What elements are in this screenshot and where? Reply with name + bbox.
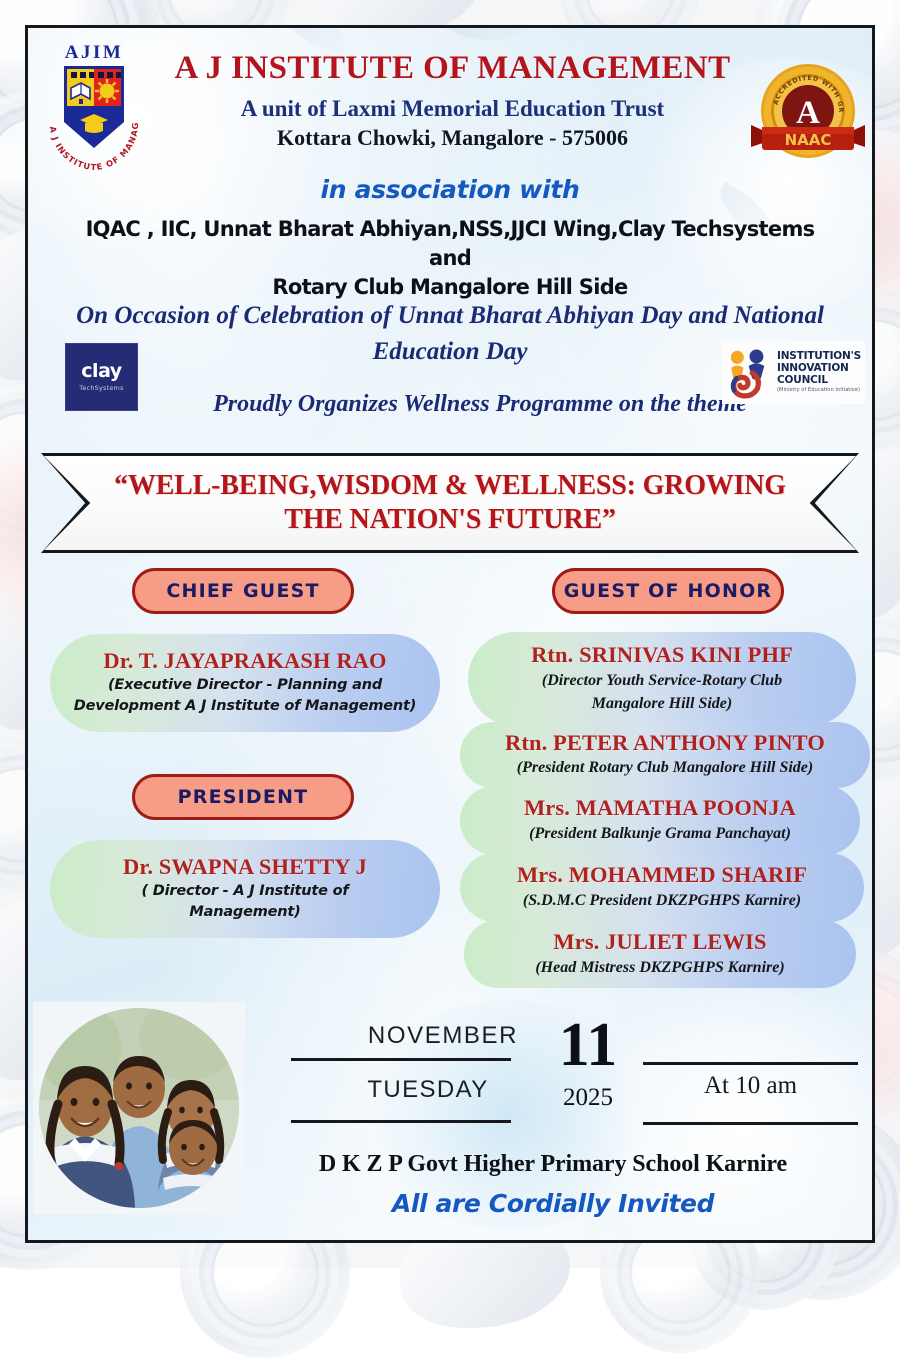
time-divider-bottom (643, 1122, 858, 1125)
svg-text:AJIM: AJIM (65, 42, 124, 63)
occasion-line-1: On Occasion of Celebration of Unnat Bhar… (66, 298, 834, 334)
association-label: in association with (28, 175, 872, 204)
iic-line-3: COUNCIL (777, 375, 861, 387)
guest-designation-line-1: (S.D.M.C President DKZPGHPS Karnire) (468, 891, 856, 911)
chief-guest-designation-line-2: Development A J Institute of Management) (64, 698, 426, 716)
guest-name: Mrs. MOHAMMED SHARIF (468, 862, 856, 888)
time-divider-top (643, 1062, 858, 1065)
guest-name: Mrs. JULIET LEWIS (472, 929, 848, 955)
institution-address: Kottara Chowki, Mangalore - 575006 (138, 125, 767, 151)
iic-line-2: INNOVATION (777, 363, 861, 375)
president-name: Dr. SWAPNA SHETTY J (64, 854, 426, 880)
clay-logo-subtitle: TechSystems (79, 384, 123, 392)
svg-text:A: A (796, 95, 820, 131)
theme-line-1: “WELL-BEING,WISDOM & WELLNESS: GROWING (114, 469, 786, 503)
institution-name: A J INSTITUTE OF MANAGEMENT (148, 50, 757, 87)
president-designation-line-1: ( Director - A J Institute of (64, 883, 426, 901)
event-weekday: TUESDAY (328, 1076, 528, 1104)
chief-guest-card: Dr. T. JAYAPRAKASH RAO (Executive Direct… (50, 634, 440, 732)
guest-of-honor-column: GUEST OF HONOR Rtn. SRINIVAS KINI PHF (D… (458, 568, 875, 988)
clay-logo-word: clay (81, 362, 121, 381)
date-divider-top (291, 1058, 511, 1061)
svg-text:NAAC: NAAC (785, 131, 832, 149)
president-designation-line-2: Management) (64, 904, 426, 922)
school-children-photo (33, 1002, 245, 1214)
guest-name: Rtn. SRINIVAS KINI PHF (478, 642, 846, 668)
guest-designation-line-1: (Head Mistress DKZPGHPS Karnire) (472, 958, 848, 978)
event-venue: D K Z P Govt Higher Primary School Karni… (248, 1151, 858, 1178)
guest-of-honor-card: Mrs. MOHAMMED SHARIF (S.D.M.C President … (460, 853, 864, 922)
clay-techsystems-logo: clay TechSystems (65, 343, 138, 411)
guest-of-honor-card: Mrs. JULIET LEWIS (Head Mistress DKZPGHP… (464, 920, 856, 989)
event-time: At 10 am (643, 1072, 858, 1100)
guest-name: Rtn. PETER ANTHONY PINTO (468, 730, 862, 756)
theme-text: “WELL-BEING,WISDOM & WELLNESS: GROWING T… (56, 469, 844, 537)
ajim-crest-logo: AJIM A J INSTITUTE OF MANAGEMENT (40, 36, 148, 181)
iic-figures-icon (726, 347, 773, 399)
event-date-block: NOVEMBER TUESDAY 11 2025 At 10 am (283, 1020, 875, 1140)
occasion-text: On Occasion of Celebration of Unnat Bhar… (66, 298, 834, 369)
poster-card: AJIM A J INSTITUTE OF MANAGEMENT (25, 25, 875, 1243)
event-day-number: 11 (528, 1014, 648, 1076)
guest-designation-line-1: (President Rotary Club Mangalore Hill Si… (468, 758, 862, 778)
guest-name: Mrs. MAMATHA POONJA (468, 795, 852, 821)
occasion-line-2: Education Day (66, 334, 834, 370)
president-card: Dr. SWAPNA SHETTY J ( Director - A J Ins… (50, 840, 440, 938)
chief-guest-name: Dr. T. JAYAPRAKASH RAO (64, 648, 426, 674)
partner-organizations: IQAC , IIC, Unnat Bharat Abhiyan,NSS,JJC… (78, 215, 822, 302)
invitation-text: All are Cordially Invited (248, 1189, 858, 1218)
guest-of-honor-card: Mrs. MAMATHA POONJA (President Balkunje … (460, 786, 860, 855)
event-month: NOVEMBER (338, 1022, 548, 1050)
guest-designation-line-1: (President Balkunje Grama Panchayat) (468, 824, 852, 844)
iic-logo: INSTITUTION'S INNOVATION COUNCIL (Minist… (722, 341, 865, 404)
iic-ministry-note: (Ministry of Education Initiative) (777, 388, 861, 394)
guest-designation-line-2: Mangalore Hill Side) (478, 694, 846, 714)
theme-line-2: THE NATION'S FUTURE” (114, 503, 786, 537)
theme-ribbon-banner: “WELL-BEING,WISDOM & WELLNESS: GROWING T… (41, 453, 859, 553)
partners-line-1: IQAC , IIC, Unnat Bharat Abhiyan,NSS,JJC… (78, 215, 822, 273)
guest-of-honor-card: Rtn. PETER ANTHONY PINTO (President Rota… (460, 722, 870, 789)
guest-of-honor-card: Rtn. SRINIVAS KINI PHF (Director Youth S… (468, 632, 856, 726)
event-year: 2025 (528, 1084, 648, 1112)
date-divider-bottom (291, 1120, 511, 1123)
chief-guest-role-badge: CHIEF GUEST (132, 568, 354, 614)
guest-designation-line-1: (Director Youth Service-Rotary Club (478, 671, 846, 691)
president-role-badge: PRESIDENT (132, 774, 354, 820)
organizes-text: Proudly Organizes Wellness Programme on … (148, 391, 812, 418)
guest-of-honor-role-badge: GUEST OF HONOR (552, 568, 784, 614)
poster-background: AJIM A J INSTITUTE OF MANAGEMENT (0, 0, 900, 1268)
left-guest-column: CHIEF GUEST Dr. T. JAYAPRAKASH RAO (Exec… (28, 568, 458, 938)
chief-guest-designation-line-1: (Executive Director - Planning and (64, 677, 426, 695)
institution-unit: A unit of Laxmi Memorial Education Trust (138, 96, 767, 122)
